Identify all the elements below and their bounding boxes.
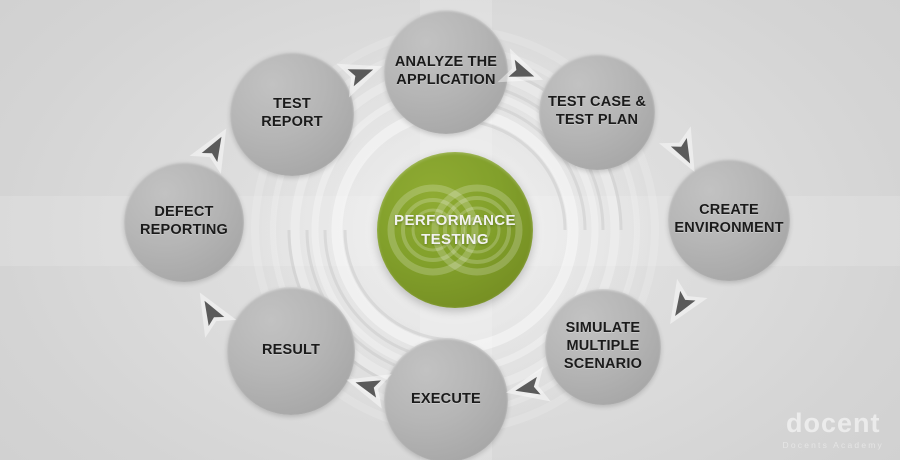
process-node-test-case-and-test-plan[interactable]: TEST CASE &TEST PLAN <box>539 54 655 170</box>
process-node-execute[interactable]: EXECUTE <box>384 338 508 460</box>
process-node-simulate-multiple-scenario[interactable]: SIMULATEMULTIPLESCENARIO <box>545 289 661 405</box>
process-node-defect-reporting[interactable]: DEFECTREPORTING <box>124 162 244 282</box>
watermark-logo-text: docent <box>782 410 884 437</box>
process-node-label-defect-reporting: DEFECTREPORTING <box>134 204 234 239</box>
performance-testing-center-node[interactable]: PERFORMANCETESTING <box>377 152 533 308</box>
process-node-label-create-environment: CREATEENVIRONMENT <box>668 202 789 237</box>
process-node-label-result: RESULT <box>256 342 326 360</box>
diagram-canvas: ANALYZE THEAPPLICATIONTEST CASE &TEST PL… <box>0 0 900 460</box>
process-node-analyze-the-application[interactable]: ANALYZE THEAPPLICATION <box>384 10 508 134</box>
process-node-label-test-report: TESTREPORT <box>255 96 329 131</box>
watermark-tagline: Docents Academy <box>782 440 884 450</box>
center-node-label: PERFORMANCETESTING <box>394 211 516 250</box>
process-node-label-analyze-the-application: ANALYZE THEAPPLICATION <box>389 54 503 89</box>
process-node-create-environment[interactable]: CREATEENVIRONMENT <box>668 159 790 281</box>
process-node-label-execute: EXECUTE <box>405 391 487 409</box>
process-node-label-simulate-multiple-scenario: SIMULATEMULTIPLESCENARIO <box>558 320 648 373</box>
docent-watermark: docent Docents Academy <box>782 410 884 450</box>
process-node-test-report[interactable]: TESTREPORT <box>230 52 354 176</box>
process-node-label-test-case-and-test-plan: TEST CASE &TEST PLAN <box>542 94 652 129</box>
process-node-result[interactable]: RESULT <box>227 287 355 415</box>
